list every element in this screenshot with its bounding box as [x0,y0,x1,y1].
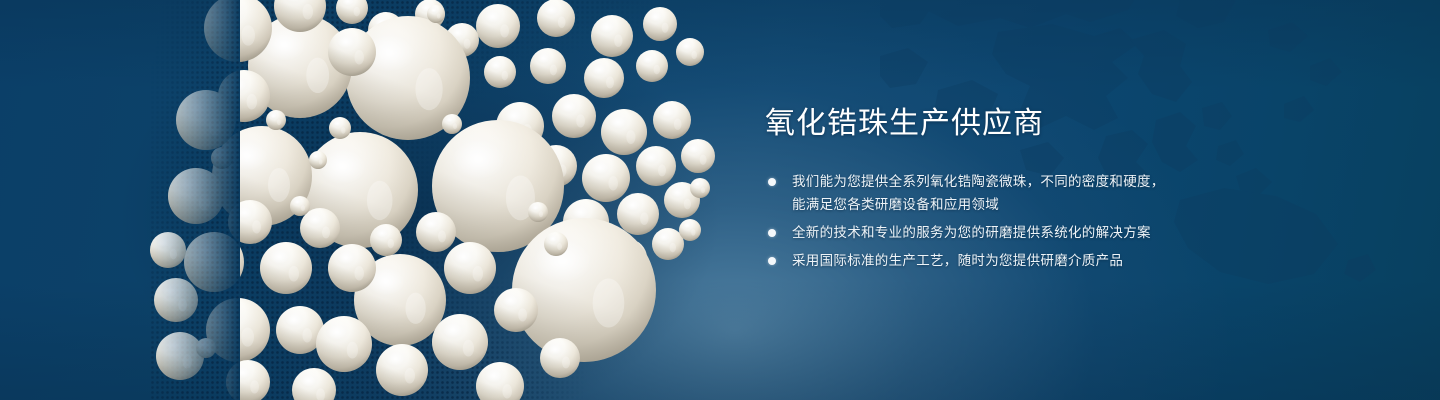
bullet-text-line-1: 全新的技术和专业的服务为您的研磨提供系统化的解决方案 [792,225,1151,240]
bullet-text-line-1: 我们能为您提供全系列氧化锆陶瓷微珠，不同的密度和硬度， [792,174,1165,189]
banner-bullet-list: 我们能为您提供全系列氧化锆陶瓷微珠，不同的密度和硬度， 能满足您各类研磨设备和应… [765,170,1285,272]
zirconia-ceramic-beads-photo [0,0,780,400]
banner-headline: 氧化锆珠生产供应商 [765,104,1285,144]
banner-content: 氧化锆珠生产供应商 我们能为您提供全系列氧化锆陶瓷微珠，不同的密度和硬度， 能满… [765,104,1285,272]
bullet-item: 全新的技术和专业的服务为您的研磨提供系统化的解决方案 [765,221,1285,244]
bullet-item: 我们能为您提供全系列氧化锆陶瓷微珠，不同的密度和硬度， 能满足您各类研磨设备和应… [765,170,1285,216]
bullet-text-line-2: 能满足您各类研磨设备和应用领域 [792,193,1285,216]
bullet-dot-icon [768,229,776,237]
bullet-dot-icon [768,257,776,265]
hero-banner: 氧化锆珠生产供应商 我们能为您提供全系列氧化锆陶瓷微珠，不同的密度和硬度， 能满… [0,0,1440,400]
bullet-item: 采用国际标准的生产工艺，随时为您提供研磨介质产品 [765,249,1285,272]
bullet-text-line-1: 采用国际标准的生产工艺，随时为您提供研磨介质产品 [792,253,1123,268]
bullet-dot-icon [768,178,776,186]
